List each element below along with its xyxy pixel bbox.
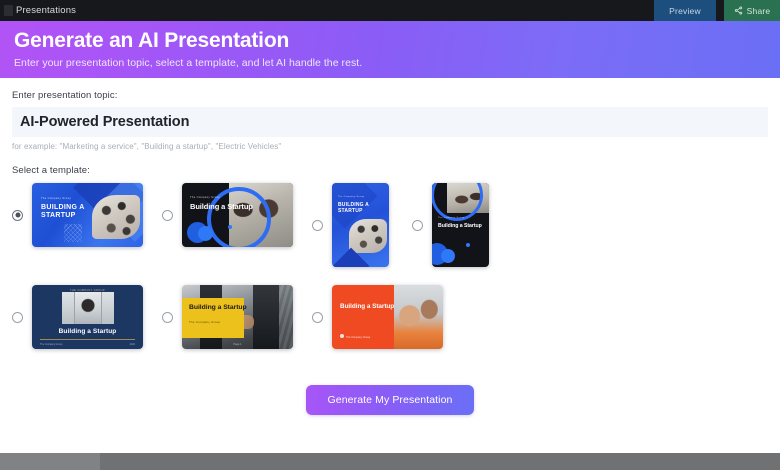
hero-banner: Generate an AI Presentation Enter your p… — [0, 21, 780, 78]
horizontal-scrollbar-thumb[interactable] — [0, 453, 100, 470]
template-logo-icon — [340, 334, 344, 338]
top-bar-left: Presentations — [0, 0, 654, 21]
template-thumbnail-6[interactable]: Building a Startup The Company Group Pag… — [182, 285, 293, 349]
page-title: Generate an AI Presentation — [14, 28, 780, 54]
template-thumbnail-7[interactable]: Building a Startup The Company Group — [332, 285, 443, 349]
template-thumbnail-3[interactable]: The Company Group BUILDING ASTARTUP — [332, 183, 389, 267]
decor-circle — [198, 226, 213, 241]
top-bar-gap — [716, 0, 724, 21]
horizontal-scrollbar[interactable] — [0, 453, 780, 470]
template-option-5[interactable]: THE COMPANY GROUP Building a Startup The… — [12, 285, 162, 349]
template-radio-1[interactable] — [12, 210, 23, 221]
template-option-1[interactable]: The Company Group BUILDING ASTARTUP — [12, 183, 162, 247]
template-title: BUILDING ASTARTUP — [338, 202, 369, 214]
template-thumbnail-1[interactable]: The Company Group BUILDING ASTARTUP — [32, 183, 143, 247]
template-footer-left: The Company Group — [346, 336, 370, 339]
share-icon — [734, 6, 743, 15]
app-logo-icon — [4, 5, 13, 16]
template-radio-7[interactable] — [312, 312, 323, 323]
template-radio-4[interactable] — [412, 220, 423, 231]
decor-panel — [332, 285, 394, 349]
template-photo — [92, 195, 140, 239]
template-thumbnail-5[interactable]: THE COMPANY GROUP Building a Startup The… — [32, 285, 143, 349]
template-label: Select a template: — [12, 165, 768, 176]
template-footer-left: The Company Group — [40, 343, 62, 346]
page-subtitle: Enter your presentation topic, select a … — [14, 57, 780, 69]
template-kicker: The Company Group — [438, 217, 464, 219]
template-radio-2[interactable] — [162, 210, 173, 221]
template-option-6[interactable]: Building a Startup The Company Group Pag… — [162, 285, 312, 349]
template-thumbnail-2[interactable]: The Company Group Building a Startup — [182, 183, 293, 247]
template-radio-6[interactable] — [162, 312, 173, 323]
template-thumbnail-4[interactable]: The Company Group Building a Startup — [432, 183, 489, 267]
share-label: Share — [747, 6, 771, 16]
decor-dot — [466, 243, 470, 247]
template-kicker: The Company Group — [190, 196, 220, 199]
topic-input[interactable] — [12, 107, 768, 137]
top-bar: Presentations Preview Share — [0, 0, 780, 21]
template-footer: Page 1 — [233, 343, 241, 346]
template-photo — [349, 219, 387, 253]
generate-button-wrap: Generate My Presentation — [12, 385, 768, 415]
decor-circle — [441, 249, 455, 263]
template-option-7[interactable]: Building a Startup The Company Group — [312, 285, 462, 349]
template-photo — [253, 285, 279, 349]
template-photo — [394, 285, 443, 349]
template-row-1: The Company Group BUILDING ASTARTUP The … — [12, 183, 768, 275]
topic-label: Enter presentation topic: — [12, 90, 768, 101]
top-bar-actions: Preview Share — [654, 0, 780, 21]
decor-pattern — [64, 224, 82, 242]
template-option-3[interactable]: The Company Group BUILDING ASTARTUP — [312, 183, 412, 267]
decor-rule — [40, 339, 135, 340]
template-footer-right: 2024 — [130, 343, 135, 346]
template-radio-5[interactable] — [12, 312, 23, 323]
decor-dot — [228, 225, 232, 229]
main-content: Enter presentation topic: for example: "… — [0, 90, 780, 415]
template-subtitle: The Company Group — [189, 320, 220, 324]
template-photo — [62, 292, 114, 324]
preview-button[interactable]: Preview — [654, 0, 716, 21]
template-option-4[interactable]: The Company Group Building a Startup — [412, 183, 512, 267]
template-option-2[interactable]: The Company Group Building a Startup — [162, 183, 312, 247]
template-kicker: The Company Group — [41, 197, 71, 200]
template-title: Building a Startup — [438, 223, 482, 229]
template-title: Building a Startup — [189, 304, 247, 311]
decor-ring — [432, 183, 483, 221]
app-title: Presentations — [16, 5, 76, 16]
topic-hint: for example: "Marketing a service", "Bui… — [12, 142, 768, 151]
template-row-2: THE COMPANY GROUP Building a Startup The… — [12, 285, 768, 367]
template-title: Building a Startup — [59, 328, 117, 335]
generate-presentation-button[interactable]: Generate My Presentation — [306, 385, 475, 415]
template-title: Building a Startup — [340, 303, 394, 310]
template-title: Building a Startup — [190, 202, 253, 211]
template-title: BUILDING ASTARTUP — [41, 204, 85, 220]
template-kicker: The Company Group — [338, 196, 364, 198]
template-radio-3[interactable] — [312, 220, 323, 231]
share-button[interactable]: Share — [724, 0, 780, 21]
